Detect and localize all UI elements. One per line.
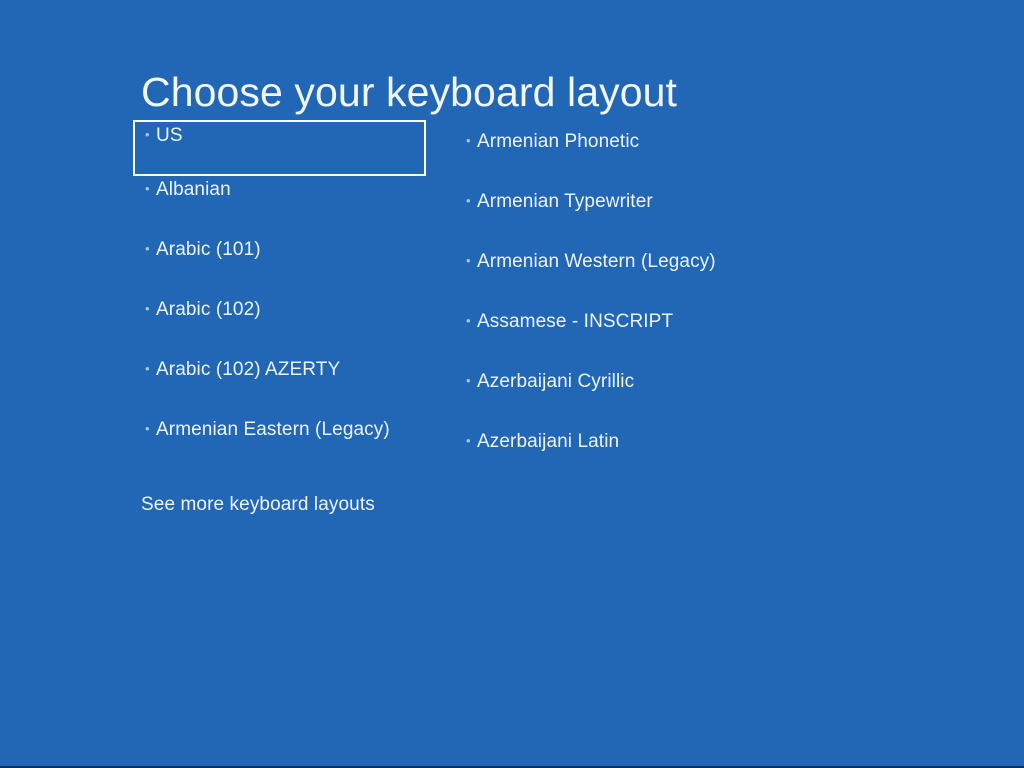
keyboard-layout-option-label: Armenian Phonetic — [477, 128, 639, 155]
keyboard-layout-option-label: Arabic (102) AZERTY — [156, 356, 340, 383]
keyboard-layout-option[interactable]: •Albanian — [133, 176, 426, 236]
bullet-icon: • — [466, 188, 477, 207]
keyboard-layout-column-left: •US•Albanian•Arabic (101)•Arabic (102)•A… — [133, 120, 433, 476]
keyboard-layout-option[interactable]: •Arabic (101) — [133, 236, 426, 296]
keyboard-layout-option[interactable]: •Arabic (102) AZERTY — [133, 356, 426, 416]
keyboard-layout-option[interactable]: •Azerbaijani Cyrillic — [454, 368, 784, 428]
keyboard-layout-option-label: Assamese - INSCRIPT — [477, 308, 673, 335]
bullet-icon: • — [466, 128, 477, 147]
keyboard-layout-option-label: Armenian Eastern (Legacy) — [156, 416, 390, 443]
keyboard-layout-option-label: Azerbaijani Cyrillic — [477, 368, 634, 395]
keyboard-layout-option[interactable]: •Armenian Western (Legacy) — [454, 248, 784, 308]
keyboard-layout-option[interactable]: •Assamese - INSCRIPT — [454, 308, 784, 368]
keyboard-layout-option-label: Armenian Typewriter — [477, 188, 653, 215]
bullet-icon: • — [145, 122, 156, 141]
bullet-icon: • — [466, 368, 477, 387]
bullet-icon: • — [145, 416, 156, 435]
bullet-icon: • — [145, 296, 156, 315]
keyboard-layout-option[interactable]: •Arabic (102) — [133, 296, 426, 356]
keyboard-layout-option-label: Albanian — [156, 176, 231, 203]
keyboard-layout-option-label: Armenian Western (Legacy) — [477, 248, 716, 275]
keyboard-layout-option-label: Azerbaijani Latin — [477, 428, 619, 455]
bullet-icon: • — [145, 176, 156, 195]
bullet-icon: • — [466, 248, 477, 267]
keyboard-layout-option[interactable]: •Azerbaijani Latin — [454, 428, 784, 488]
bullet-icon: • — [466, 428, 477, 447]
bullet-icon: • — [145, 236, 156, 255]
bullet-icon: • — [145, 356, 156, 375]
keyboard-layout-option[interactable]: •Armenian Eastern (Legacy) — [133, 416, 426, 476]
keyboard-layout-option-selected[interactable]: •US — [133, 120, 426, 176]
keyboard-layout-column-right: •Armenian Phonetic•Armenian Typewriter•A… — [454, 128, 784, 488]
keyboard-layout-option-label: Arabic (102) — [156, 296, 261, 323]
keyboard-layout-option[interactable]: •Armenian Phonetic — [454, 128, 784, 188]
keyboard-layout-option[interactable]: •Armenian Typewriter — [454, 188, 784, 248]
keyboard-layout-screen: Choose your keyboard layout •US•Albanian… — [0, 0, 1024, 768]
bullet-icon: • — [466, 308, 477, 327]
keyboard-layout-option-label: US — [156, 122, 183, 149]
page-title: Choose your keyboard layout — [141, 65, 677, 119]
see-more-keyboard-layouts-link[interactable]: See more keyboard layouts — [141, 492, 375, 518]
keyboard-layout-option-label: Arabic (101) — [156, 236, 261, 263]
